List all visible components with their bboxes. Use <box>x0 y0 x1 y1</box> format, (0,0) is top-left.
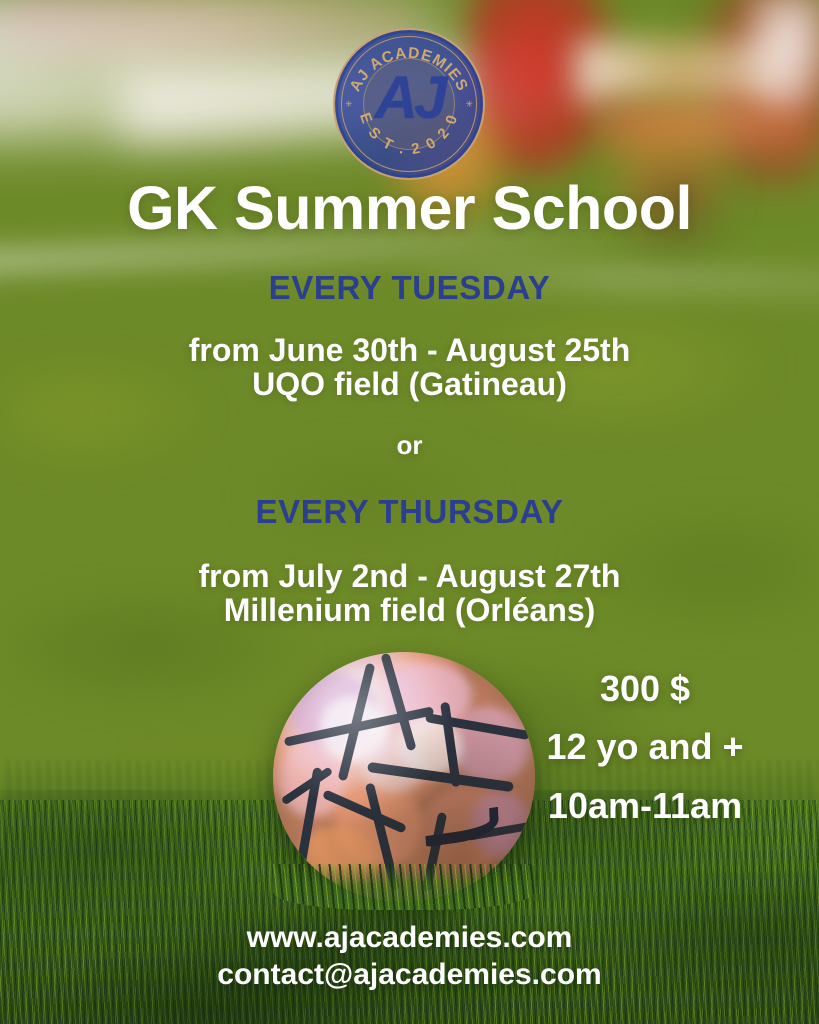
background-white-blur-right <box>744 0 819 110</box>
website-url[interactable]: www.ajacademies.com <box>0 920 819 957</box>
session-1-location: UQO field (Gatineau) <box>0 368 819 402</box>
star-left-icon: ✳ <box>345 100 353 109</box>
session-1-details: from June 30th - August 25th UQO field (… <box>0 334 819 402</box>
poster-canvas: AJ ACADEMIES E S T . 2 0 2 0 AJ ✳ ✳ GK S… <box>0 0 819 1024</box>
session-2-location: Millenium field (Orléans) <box>0 594 819 628</box>
pricing-details: 300 $ 12 yo and + 10am-11am <box>495 660 795 835</box>
session-2-details: from July 2nd - August 27th Millenium fi… <box>0 560 819 628</box>
poster-title: GK Summer School <box>0 176 819 241</box>
grass-foreground-overlay <box>273 864 535 910</box>
session-1-dates: from June 30th - August 25th <box>0 334 819 368</box>
aj-academies-logo: AJ ACADEMIES E S T . 2 0 2 0 AJ ✳ ✳ <box>333 28 485 180</box>
or-separator: or <box>0 430 819 461</box>
session-1-day: EVERY TUESDAY <box>0 270 819 306</box>
badge-monogram: AJ <box>333 68 485 128</box>
footer-contact: www.ajacademies.com contact@ajacademies.… <box>0 920 819 993</box>
age-requirement: 12 yo and + <box>495 718 795 776</box>
star-right-icon: ✳ <box>465 100 473 109</box>
session-2-dates: from July 2nd - August 27th <box>0 560 819 594</box>
price-value: 300 $ <box>495 660 795 718</box>
session-2-day: EVERY THURSDAY <box>0 494 819 530</box>
email-address[interactable]: contact@ajacademies.com <box>0 957 819 994</box>
session-time: 10am-11am <box>495 777 795 835</box>
